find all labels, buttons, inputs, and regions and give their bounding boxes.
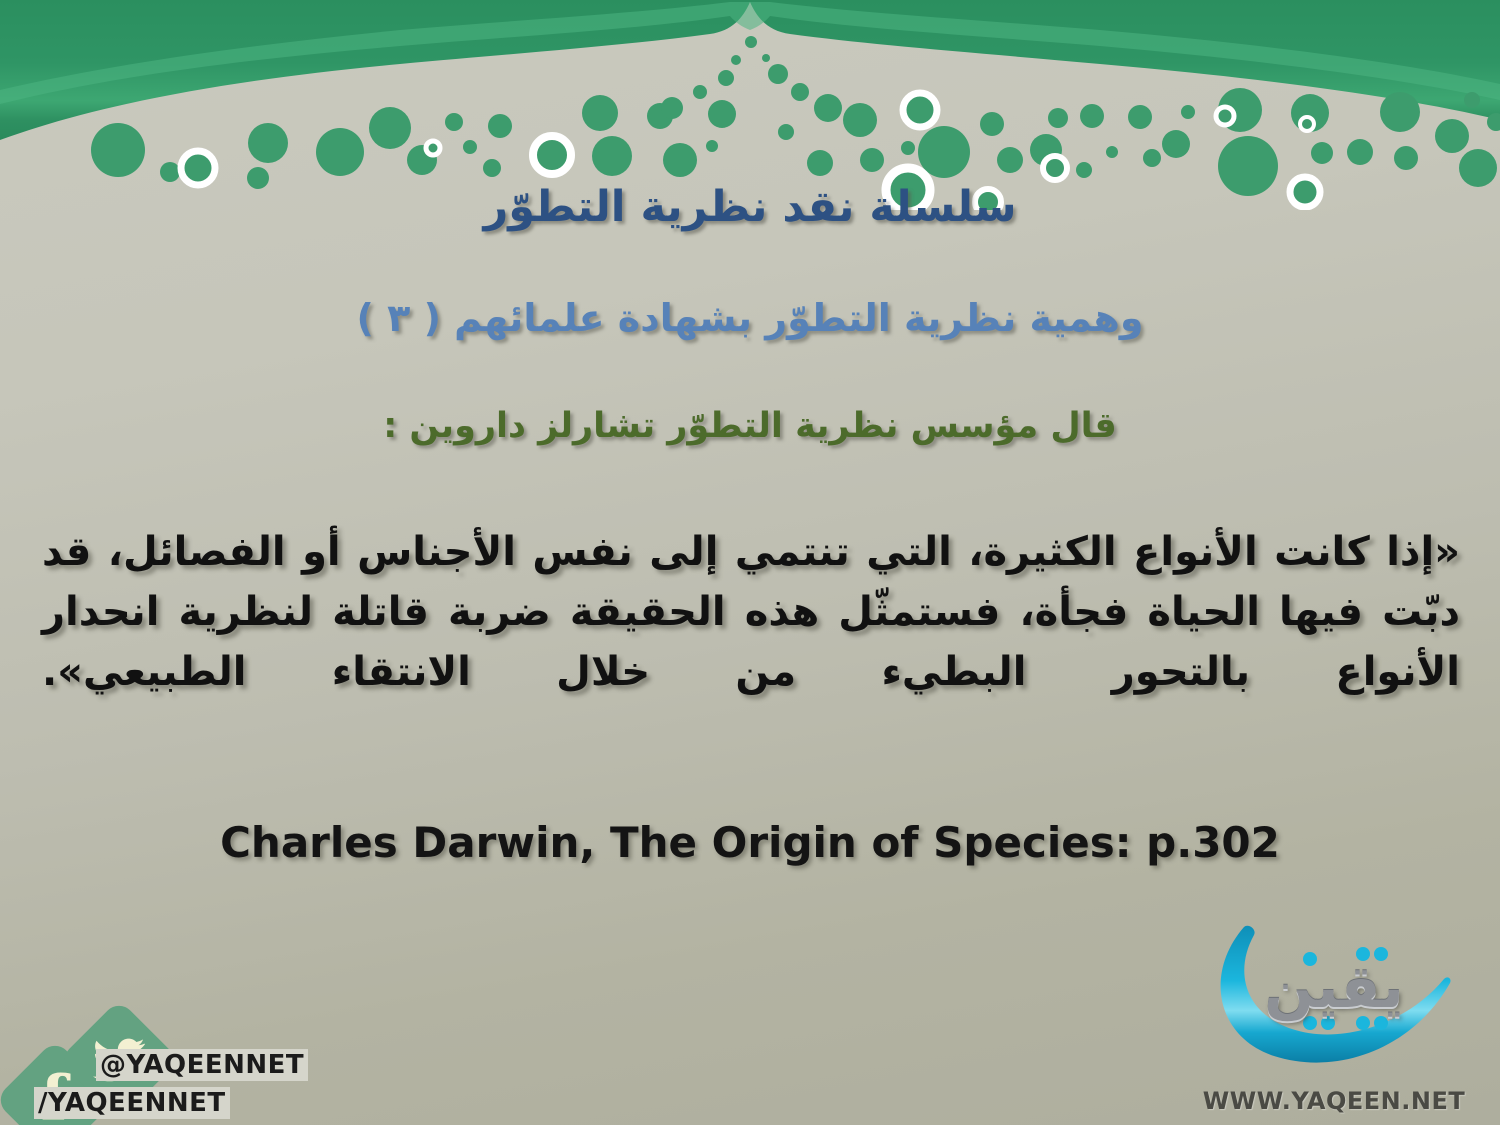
- series-title: سلسلة نقد نظرية التطوّر: [0, 182, 1500, 232]
- logo-website-url[interactable]: WWW.YAQEEN.NET: [1200, 1087, 1468, 1115]
- slide-subtitle: وهمية نظرية التطوّر بشهادة علمائهم ( ٣ ): [0, 296, 1500, 340]
- slide-canvas: سلسلة نقد نظرية التطوّر وهمية نظرية التط…: [0, 0, 1500, 1125]
- quote-lead-in: قال مؤسس نظرية التطوّر تشارلز داروين :: [0, 406, 1500, 446]
- logo-wordmark: يقين: [1200, 953, 1468, 1021]
- darwin-quote: «إذا كانت الأنواع الكثيرة، التي تنتمي إل…: [42, 522, 1460, 702]
- social-links: f @YAQEENNET /YAQEENNET: [4, 990, 334, 1125]
- citation-line: Charles Darwin, The Origin of Species: p…: [0, 818, 1500, 867]
- facebook-handle-label[interactable]: /YAQEENNET: [34, 1087, 230, 1119]
- yaqeen-logo[interactable]: يقين WWW.YAQEEN.NET: [1200, 907, 1468, 1119]
- twitter-handle-label[interactable]: @YAQEENNET: [96, 1049, 308, 1081]
